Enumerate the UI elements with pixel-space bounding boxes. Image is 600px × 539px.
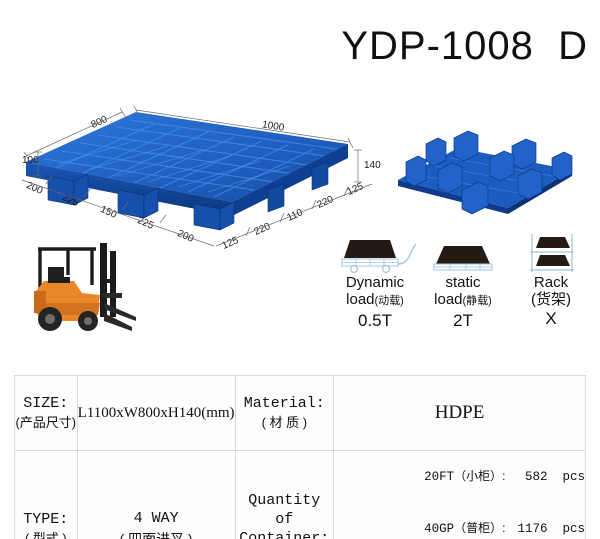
hand-truck-load-icon — [332, 232, 418, 274]
page-title: YDP-1008 D — [0, 24, 588, 69]
dynamic-load-value: 0.5T — [332, 311, 418, 331]
dynamic-load-label-1: Dynamic — [332, 274, 418, 291]
static-load-icon — [420, 232, 506, 274]
static-load-label-en: load — [434, 291, 462, 308]
qty-unit-0: pcs — [562, 470, 585, 484]
qty-cn-1: （普柜）: — [454, 521, 505, 535]
quantity-label-en-1: Quantity of — [236, 491, 334, 529]
size-label-en: SIZE: — [15, 394, 77, 413]
static-load-label-2: load(静载) — [420, 291, 506, 310]
material-label-en: Material: — [236, 394, 334, 413]
quantity-value-cell: 20FT（小柜）:582 pcs 40GP（普柜）:1176 pcs 40HQ（… — [334, 451, 586, 539]
container-quantity-list: 20FT（小柜）:582 pcs 40GP（普柜）:1176 pcs 40HQ（… — [334, 451, 585, 539]
material-label-cell: Material: ( 材 质 ) — [235, 376, 334, 451]
qty-name-1: 40GP — [424, 522, 454, 536]
static-load-label-cn: (静载) — [463, 295, 492, 307]
qty-name-0: 20FT — [424, 470, 454, 484]
quantity-label-cell: Quantity of Container: (装 箱 量) — [235, 451, 334, 539]
size-value: L1100xW800xH140(mm) — [78, 403, 235, 423]
rack-label-1: Rack — [508, 274, 594, 291]
material-value-cell: HDPE — [334, 376, 586, 451]
table-row: SIZE: (产品尺寸) L1100xW800xH140(mm) Materia… — [15, 376, 586, 451]
type-label-cell: TYPE: ( 型式 ) — [15, 451, 78, 539]
dynamic-load-label-2: load(动载) — [332, 291, 418, 310]
list-item: 40GP（普柜）:1176 pcs — [334, 503, 585, 539]
specification-table: SIZE: (产品尺寸) L1100xW800xH140(mm) Materia… — [14, 375, 586, 539]
rack-value: X — [508, 309, 594, 329]
dynamic-load-label-cn: (动载) — [375, 295, 404, 307]
product-spec-page: YDP-1008 D — [0, 0, 600, 539]
qty-num-1: 1176 — [505, 521, 547, 538]
qty-unit-1: pcs — [562, 522, 585, 536]
load-ratings: Dynamic load(动载) 0.5T static load(静载) — [332, 232, 594, 337]
forklift-illustration — [22, 235, 138, 341]
size-label-cell: SIZE: (产品尺寸) — [15, 376, 78, 451]
size-label-cn: (产品尺寸) — [15, 413, 77, 432]
static-load-block: static load(静载) 2T — [420, 232, 506, 331]
type-value-en: 4 WAY — [78, 508, 235, 529]
material-label-cn: ( 材 质 ) — [236, 413, 334, 432]
list-item: 20FT（小柜）:582 pcs — [334, 451, 585, 503]
dynamic-load-label-en: load — [346, 291, 374, 308]
type-label-en: TYPE: — [15, 510, 77, 529]
dynamic-load-block: Dynamic load(动载) 0.5T — [332, 232, 418, 331]
table-row: TYPE: ( 型式 ) 4 WAY ( 四面进叉 ) Quantity of … — [15, 451, 586, 539]
type-value-cell: 4 WAY ( 四面进叉 ) — [77, 451, 235, 539]
rack-label-cn: (货架) — [508, 291, 594, 308]
size-value-cell: L1100xW800xH140(mm) — [77, 376, 235, 451]
type-value-cn: ( 四面进叉 ) — [78, 529, 235, 539]
material-value: HDPE — [334, 402, 585, 424]
pallet-secondary-illustration — [392, 118, 578, 228]
quantity-label-en-2: Container: — [236, 529, 334, 539]
static-load-label-1: static — [420, 274, 506, 291]
rack-load-icon — [508, 232, 594, 274]
rack-load-block: Rack (货架) X — [508, 232, 594, 329]
type-label-cn: ( 型式 ) — [15, 529, 77, 539]
qty-cn-0: （小柜）: — [454, 469, 505, 483]
static-load-value: 2T — [420, 311, 506, 331]
qty-num-0: 582 — [505, 469, 547, 486]
